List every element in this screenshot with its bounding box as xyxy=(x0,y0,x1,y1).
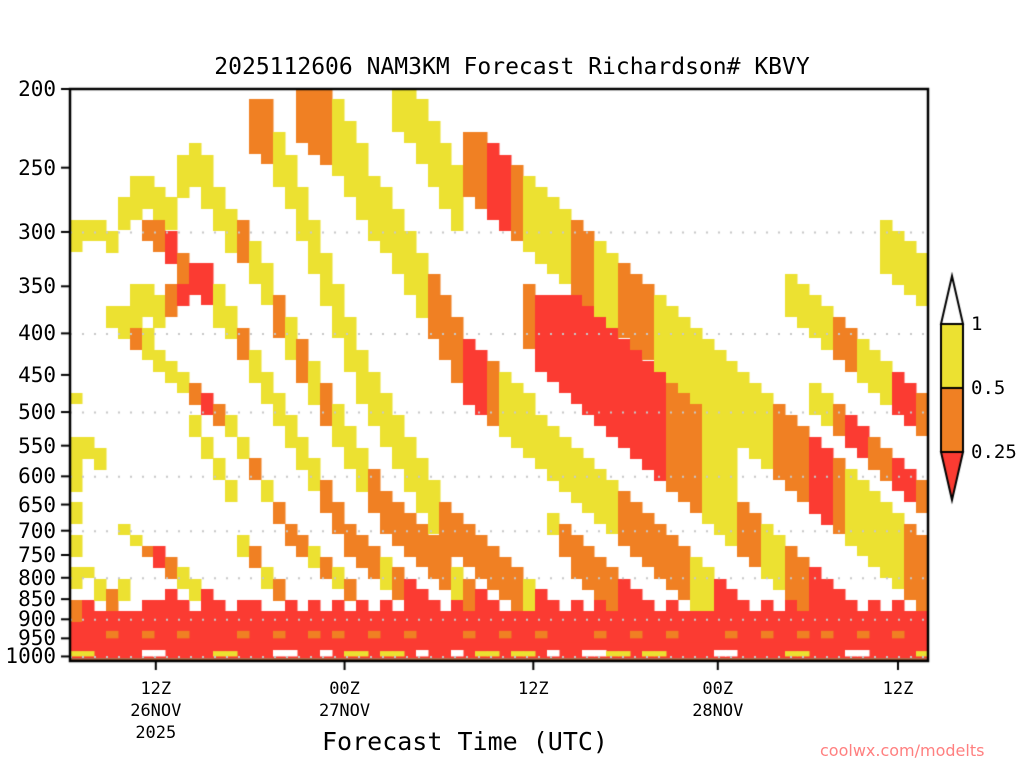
y-axis-tick-label: 350 xyxy=(18,274,56,298)
y-axis-tick-label: 550 xyxy=(18,434,56,458)
x-axis-tick-label-date: 26NOV xyxy=(130,701,181,721)
y-axis-tick-label: 450 xyxy=(18,363,56,387)
y-axis-tick-label: 1000 xyxy=(5,644,56,668)
x-axis-tick-label-time: 00Z xyxy=(702,679,733,699)
colorbar-tick-label: 0.25 xyxy=(971,441,1017,463)
x-axis-title: Forecast Time (UTC) xyxy=(0,727,930,756)
x-axis-tick-label-time: 00Z xyxy=(329,679,360,699)
colorbar-tick-label: 1 xyxy=(971,313,982,335)
x-axis-tick-label-date: 27NOV xyxy=(319,701,370,721)
y-axis-tick-label: 600 xyxy=(18,464,56,488)
x-axis-tick-label-time: 12Z xyxy=(518,679,549,699)
y-axis-tick-label: 500 xyxy=(18,400,56,424)
x-axis-tick-label-time: 12Z xyxy=(140,679,171,699)
chart-figure: 2025112606 NAM3KM Forecast Richardson# K… xyxy=(0,0,1024,768)
watermark-link[interactable]: coolwx.com/modelts xyxy=(820,741,984,760)
y-axis-tick-label: 300 xyxy=(18,220,56,244)
colorbar-tick-label: 0.5 xyxy=(971,377,1005,399)
y-axis-tick-label: 750 xyxy=(18,543,56,567)
y-axis-tick-label: 400 xyxy=(18,321,56,345)
y-axis-tick-label: 650 xyxy=(18,493,56,517)
x-axis-tick-label-date: 28NOV xyxy=(692,701,743,721)
y-axis-tick-label: 250 xyxy=(18,156,56,180)
y-axis-tick-label: 700 xyxy=(18,519,56,543)
x-axis-tick-label-time: 12Z xyxy=(883,679,914,699)
y-axis-tick-label: 200 xyxy=(18,77,56,101)
heatmap-plot-canvas xyxy=(0,0,1024,768)
